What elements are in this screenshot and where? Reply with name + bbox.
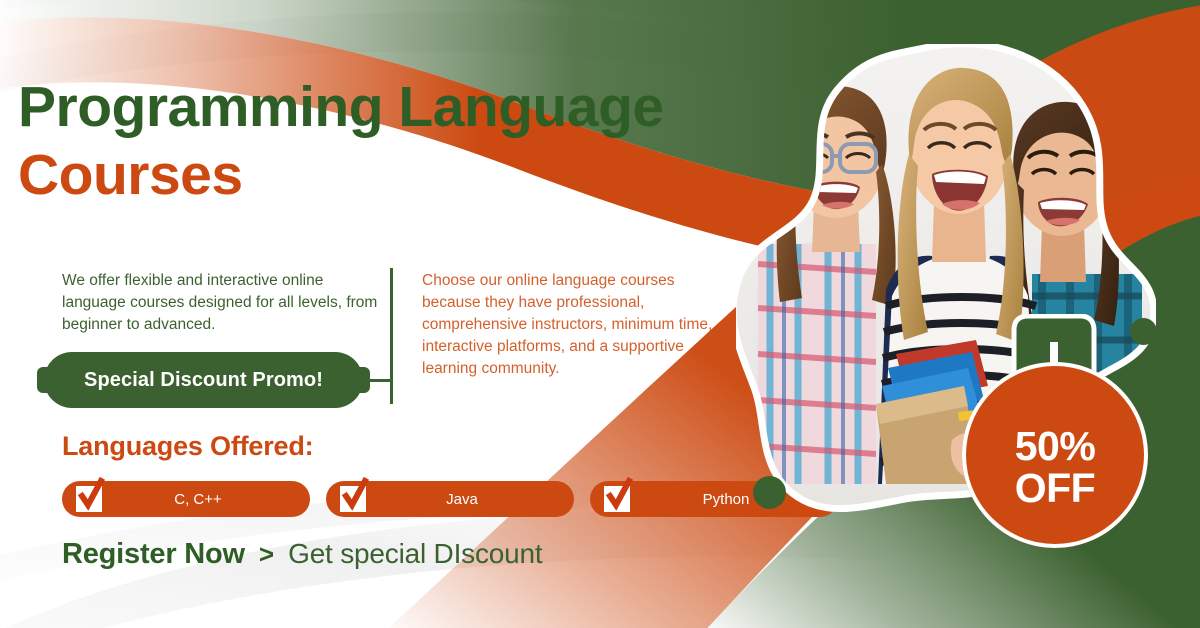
language-chips-row: C, C++ Java Python bbox=[62, 481, 838, 517]
headline-line-2: Courses bbox=[18, 146, 778, 204]
headline-line-1: Programming Language bbox=[18, 78, 778, 136]
check-icon bbox=[340, 486, 366, 512]
green-dot-lower-left bbox=[753, 476, 786, 509]
languages-offered-heading: Languages Offered: bbox=[62, 431, 313, 462]
green-dot-upper-right bbox=[1130, 318, 1157, 345]
get-special-discount-text: Get special DIscount bbox=[288, 538, 542, 570]
discount-badge: 50% OFF bbox=[962, 362, 1148, 548]
register-cta-row[interactable]: Register Now > Get special DIscount bbox=[62, 538, 542, 571]
chevron-right-icon: > bbox=[259, 539, 274, 570]
special-discount-promo-button[interactable]: Special Discount Promo! bbox=[44, 352, 363, 408]
promo-notch-right-icon bbox=[359, 367, 370, 393]
register-now-link[interactable]: Register Now bbox=[62, 538, 245, 571]
language-chip-label: Java bbox=[446, 491, 478, 508]
language-chip-java[interactable]: Java bbox=[326, 481, 574, 517]
promo-button-wrapper: Special Discount Promo! bbox=[44, 352, 363, 408]
intro-paragraph-right: Choose our online language courses becau… bbox=[422, 270, 722, 380]
language-chip-label: C, C++ bbox=[174, 491, 222, 508]
student-left bbox=[754, 86, 895, 484]
intro-divider-line bbox=[390, 268, 393, 404]
promo-button-label: Special Discount Promo! bbox=[84, 369, 323, 392]
check-icon bbox=[76, 486, 102, 512]
headline: Programming Language Courses bbox=[18, 78, 778, 204]
discount-badge-circle: 50% OFF bbox=[962, 362, 1148, 548]
check-icon bbox=[604, 486, 630, 512]
promo-notch-left-icon bbox=[37, 367, 48, 393]
discount-off-label: OFF bbox=[1015, 467, 1095, 510]
promo-banner: Programming Language Courses We offer fl… bbox=[0, 0, 1200, 628]
language-chip-c-cpp[interactable]: C, C++ bbox=[62, 481, 310, 517]
intro-paragraph-left: We offer flexible and interactive online… bbox=[62, 270, 378, 336]
discount-percent: 50% bbox=[1015, 426, 1096, 468]
